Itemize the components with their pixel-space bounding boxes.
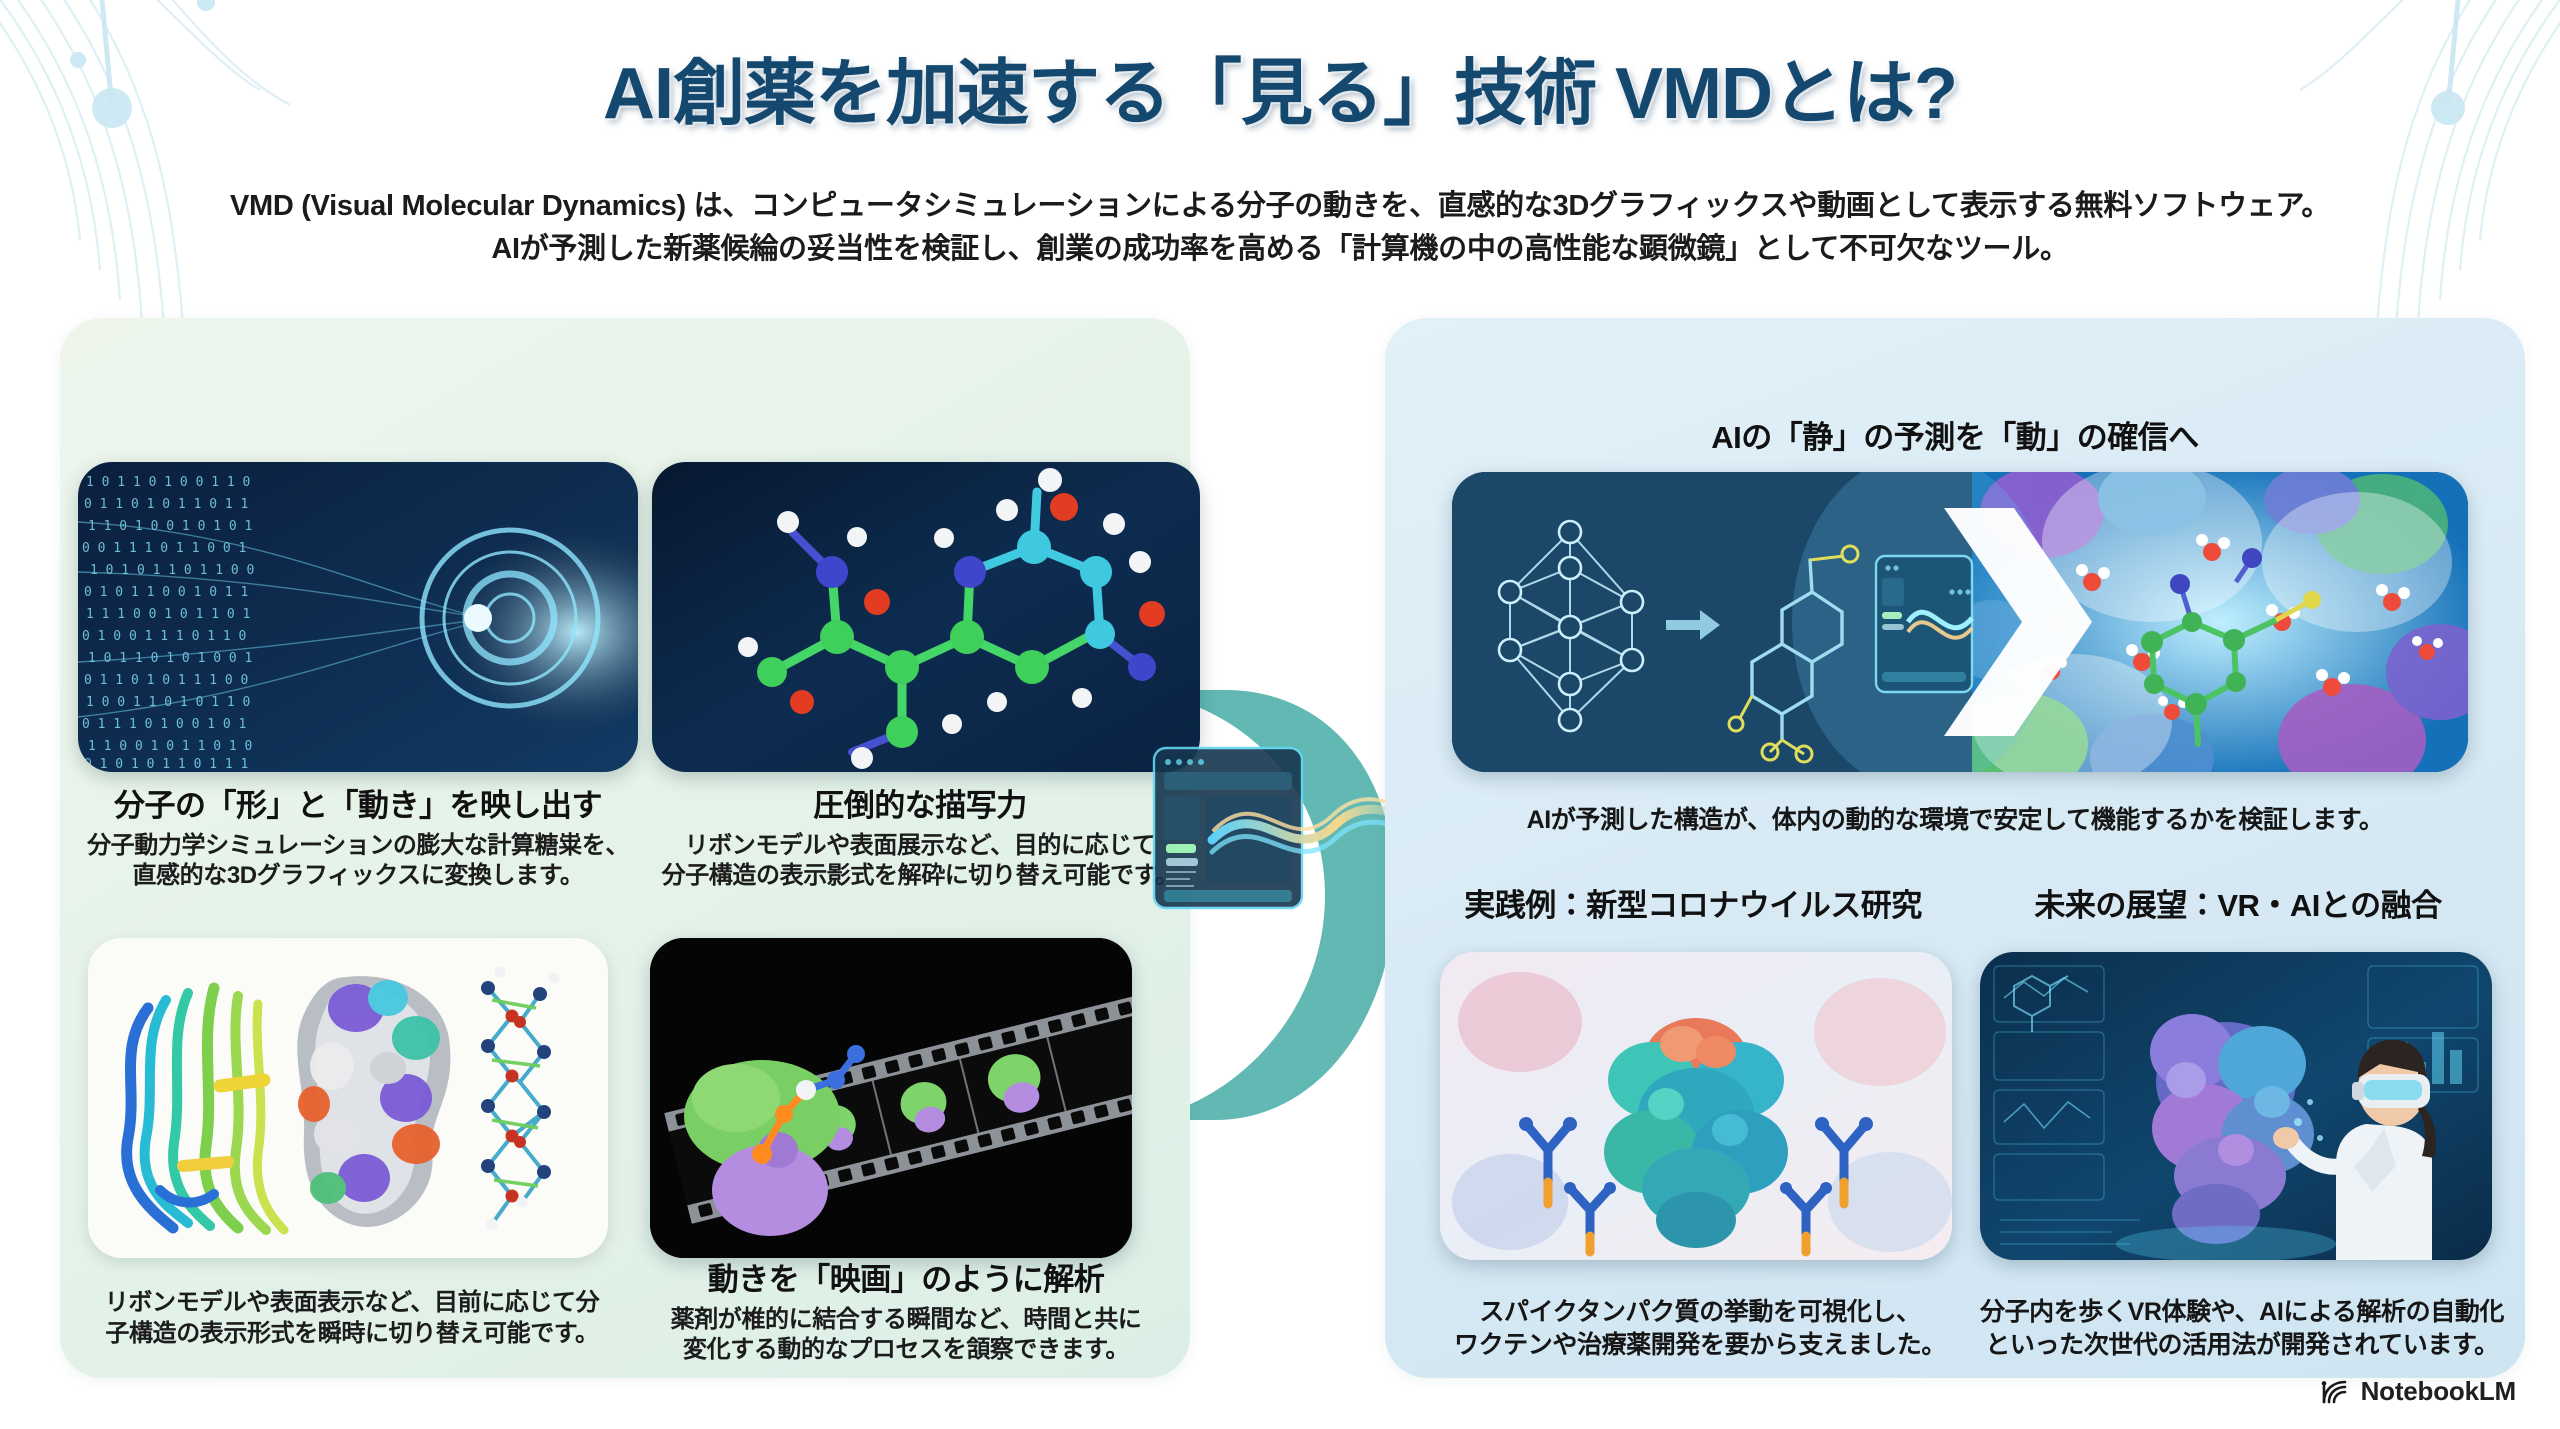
right-panel-heading: AIの「静」の予測を「動」の確信へ: [1385, 412, 2525, 457]
svg-text:0 1 1 0 1 0 1 1 0 1 1: 0 1 1 0 1 0 1 1 0 1 1: [84, 497, 248, 512]
spike-protein-antibody-illustration: [1440, 952, 1952, 1260]
caption-body: リボンモデルや表面表示など、目前に応じて分 子構造の表示形式を瞬時に切り替え可能…: [62, 1288, 642, 1349]
caption-body: 薬剤が椎的に結合する瞬間など、時間と共に 変化する動的なプロセスを頷察できます。: [636, 1305, 1176, 1366]
lede-paragraph: VMD (Visual Molecular Dynamics) は、コンピュータ…: [0, 185, 2560, 271]
caption-title: 動きを「映画」のように解析: [636, 1262, 1176, 1299]
caption-body-line-1: 薬剤が椎的に結合する瞬間など、時間と共に: [636, 1305, 1176, 1336]
vr-headset-researcher-illustration: [1980, 952, 2492, 1260]
neural-network-to-simulation-illustration: [1452, 472, 2468, 772]
caption-line-1: スパイクタンパク質の挙動を可視化し、: [1430, 1296, 1970, 1329]
svg-text:0 1 1 1 0 1 0 0 1 0 1: 0 1 1 1 0 1 0 0 1 0 1: [82, 717, 246, 732]
ball-and-stick-molecule-illustration: [652, 462, 1200, 772]
header: AI創薬を加速する「見る」技術 VMDとは? VMD (Visual Molec…: [0, 0, 2560, 300]
card-ribbon-surface-image[interactable]: [88, 938, 608, 1258]
binary-stream-illustration: 1 0 1 1 0 1 0 0 1 1 00 1 1 0 1 0 1 1 0 1…: [78, 462, 638, 772]
caption-title: 分子の「形」と「動き」を映し出す: [78, 788, 638, 825]
card-coronavirus-spike-image[interactable]: [1440, 952, 1952, 1260]
protein-representation-illustration: [88, 938, 608, 1258]
footer-brand-label: NotebookLM: [2361, 1376, 2516, 1407]
svg-text:0 0 1 1 1 0 1 1 0 0 1: 0 0 1 1 1 0 1 1 0 0 1: [82, 541, 246, 556]
svg-text:0 1 1 0 1 0 1 1 1 0 0: 0 1 1 0 1 0 1 1 1 0 0: [84, 673, 248, 688]
svg-text:1 0 1 1 0 1 0 0 1 1 0: 1 0 1 1 0 1 0 0 1 1 0: [86, 475, 250, 490]
card-film-strip-image[interactable]: [650, 938, 1132, 1258]
subsection-heading-vr-ai: 未来の展望：VR・AIとの融合: [1965, 880, 2511, 925]
caption-film-strip: 動きを「映画」のように解析 薬剤が椎的に結合する瞬間など、時間と共に 変化する動…: [636, 1262, 1176, 1366]
lede-line-2: AIが予測した新薬候綸の妥当性を検証し、創業の成功率を高める「計算機の中の高性能…: [0, 228, 2560, 271]
lede-line-1: VMD (Visual Molecular Dynamics) は、コンピュータ…: [0, 185, 2560, 228]
caption-binary-stream: 分子の「形」と「動き」を映し出す 分子動力学シミュレーションの膨大な計算糖粜を、…: [78, 788, 638, 892]
caption-body-line-1: リボンモデルや表面展示など、目的に応じて: [640, 831, 1200, 862]
footer-brand: NotebookLM: [2320, 1376, 2516, 1407]
page-title: AI創薬を加速する「見る」技術 VMDとは?: [0, 34, 2560, 139]
card-vr-researcher-image[interactable]: [1980, 952, 2492, 1260]
caption-body-line-2: 子構造の表示形式を瞬時に切り替え可能です。: [62, 1319, 642, 1350]
caption-line-2: ワクテンや治療薬開発を要から支えました。: [1430, 1329, 1970, 1362]
notebooklm-spiral-icon: [2320, 1377, 2350, 1407]
caption-line-1: 分子内を歩くVR体験や、AIによる解析の自動化: [1962, 1296, 2522, 1329]
caption-ribbon-surface: リボンモデルや表面表示など、目前に応じて分 子構造の表示形式を瞬時に切り替え可能…: [62, 1288, 642, 1349]
caption-body-line-2: 直感的な3Dグラフィックスに変換します。: [78, 861, 638, 892]
caption-body: 分子動力学シミュレーションの膨大な計算糖粜を、 直感的な3Dグラフィックスに変換…: [78, 831, 638, 892]
caption-vr-ai: 分子内を歩くVR体験や、AIによる解析の自動化 といった次世代の活用法が開発され…: [1962, 1296, 2522, 1361]
caption-line-2: といった次世代の活用法が開発されています。: [1962, 1329, 2522, 1362]
caption-body-line-2: 変化する動的なプロセスを頷察できます。: [636, 1335, 1176, 1366]
svg-text:0 1 0 0 1 1 1 0 1 1 0: 0 1 0 0 1 1 1 0 1 1 0: [82, 629, 246, 644]
caption-body-line-2: 分子構造の表示影式を解砕に切り替え可能です。: [640, 861, 1200, 892]
card-ai-to-dynamics-image[interactable]: [1452, 472, 2468, 772]
caption-body: リボンモデルや表面展示など、目的に応じて 分子構造の表示影式を解砕に切り替え可能…: [640, 831, 1200, 892]
subsection-heading-corona: 実践例：新型コロナウイルス研究: [1420, 880, 1966, 925]
card-molecule-model-image[interactable]: [652, 462, 1200, 772]
caption-molecule-model: 圧倒的な描写力 リボンモデルや表面展示など、目的に応じて 分子構造の表示影式を解…: [640, 788, 1200, 892]
svg-text:0 1 0 1 0 1 1 0 1 1 1: 0 1 0 1 0 1 1 0 1 1 1: [84, 757, 248, 772]
caption-body-line-1: 分子動力学シミュレーションの膨大な計算糖粜を、: [78, 831, 638, 862]
card-binary-stream-image[interactable]: 1 0 1 1 0 1 0 0 1 1 00 1 1 0 1 0 1 1 0 1…: [78, 462, 638, 772]
svg-text:1 0 0 1 1 0 1 0 1 1 0: 1 0 0 1 1 0 1 0 1 1 0: [86, 695, 250, 710]
svg-text:1 1 1 0 0 1 0 1 1 0 1: 1 1 1 0 0 1 0 1 1 0 1: [86, 607, 250, 622]
caption-corona: スパイクタンパク質の挙動を可視化し、 ワクテンや治療薬開発を要から支えました。: [1430, 1296, 1970, 1361]
ai-flow-note: AIが予測した構造が、体内の動的な環境で安定して機能するかを検証します。: [1385, 800, 2525, 836]
svg-text:1 0 1 0 1 1 0 1 1 0 0: 1 0 1 0 1 1 0 1 1 0 0: [90, 563, 254, 578]
film-strip-illustration: [650, 938, 1132, 1258]
caption-title: 圧倒的な描写力: [640, 788, 1200, 825]
svg-text:1 0 1 1 0 1 0 1 0 0 1: 1 0 1 1 0 1 0 1 0 0 1: [88, 651, 252, 666]
svg-text:1 1 0 0 1 0 1 1 0 1 0: 1 1 0 0 1 0 1 1 0 1 0: [88, 739, 252, 754]
caption-body-line-1: リボンモデルや表面表示など、目前に応じて分: [62, 1288, 642, 1319]
svg-text:0 1 0 1 1 0 0 1 0 1 1: 0 1 0 1 1 0 0 1 0 1 1: [84, 585, 248, 600]
